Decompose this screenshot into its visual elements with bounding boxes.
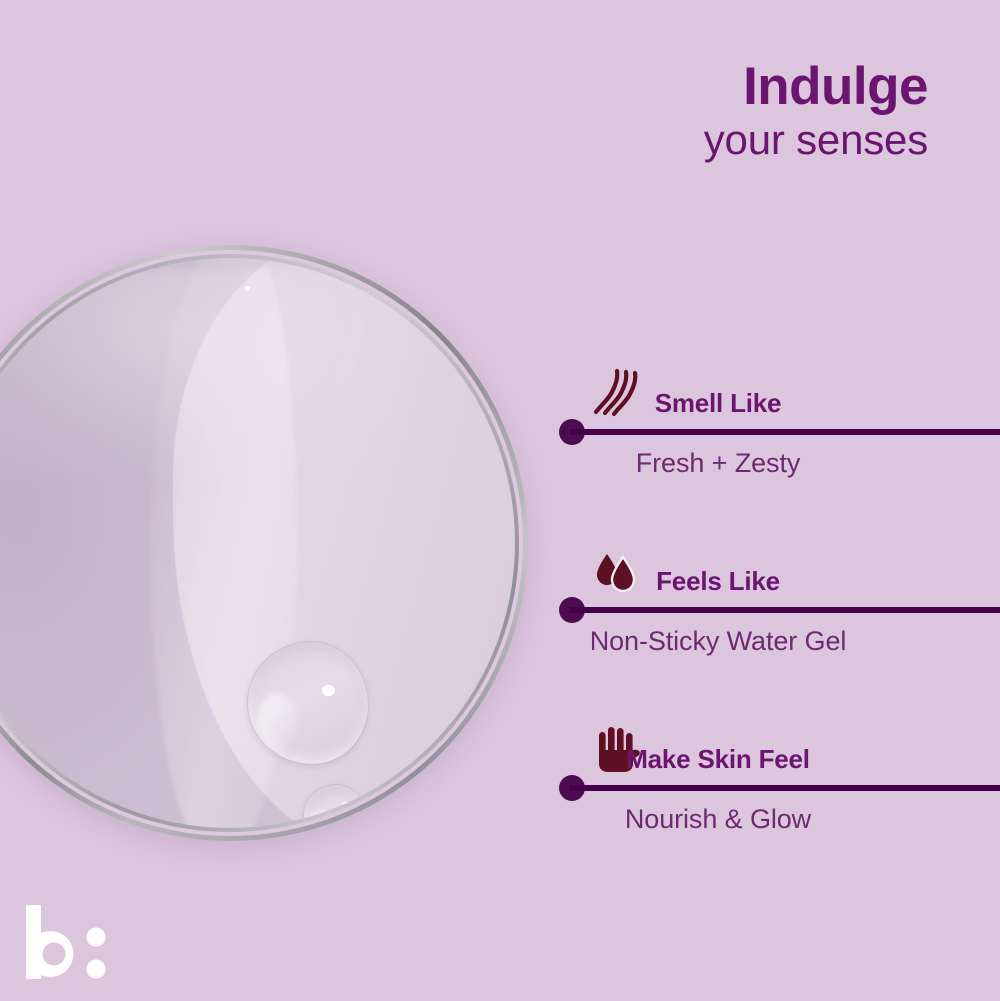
promo-canvas: Indulge your senses xyxy=(0,0,1000,1001)
feature-value: Nourish & Glow xyxy=(508,804,928,835)
brand-logo: b: xyxy=(16,903,126,983)
feature-title: Feels Like xyxy=(508,566,928,597)
timeline-line xyxy=(570,785,1000,791)
feature-list: Smell Like Fresh + Zesty Feels Like Non-… xyxy=(0,0,1000,1001)
feature-value: Fresh + Zesty xyxy=(508,448,928,479)
timeline-line xyxy=(570,429,1000,435)
feature-title: Smell Like xyxy=(508,388,928,419)
timeline-line xyxy=(570,607,1000,613)
feature-value: Non-Sticky Water Gel xyxy=(508,626,928,657)
feature-title: Make Skin Feel xyxy=(508,744,928,775)
